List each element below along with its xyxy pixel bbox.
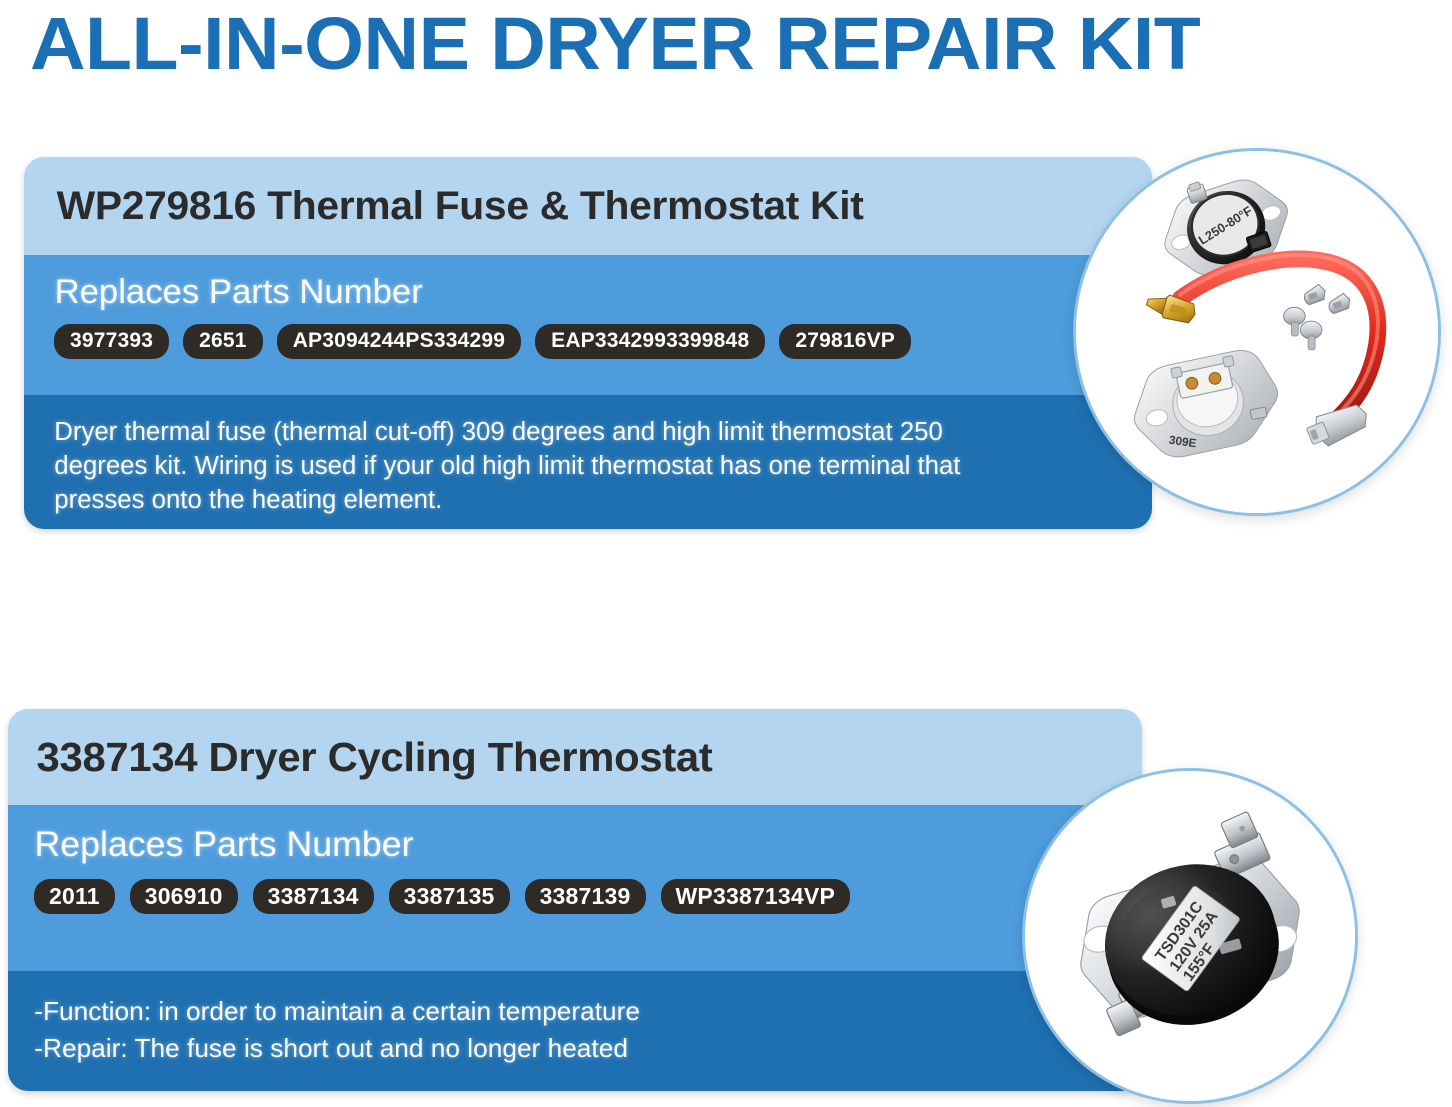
- card-description-band: Dryer thermal fuse (thermal cut-off) 309…: [24, 395, 1152, 529]
- part-number-badge: EAP3342993399848: [535, 324, 765, 359]
- infographic-page: ALL-IN-ONE DRYER REPAIR KIT WP279816 The…: [0, 0, 1452, 1107]
- part-number-badge: 306910: [130, 879, 238, 914]
- replaces-parts-label: Replaces Parts Number: [8, 805, 1142, 865]
- part-number-badge: 3387139: [525, 879, 646, 914]
- part-number-badge: 3387135: [389, 879, 510, 914]
- card-title: 3387134 Dryer Cycling Thermostat: [8, 734, 712, 781]
- part-number-badge: WP3387134VP: [661, 879, 850, 914]
- part-number-badge-row: 3977393 2651 AP3094244PS334299 EAP334299…: [24, 324, 1152, 359]
- part-number-badge: 2651: [183, 324, 263, 359]
- card-title: WP279816 Thermal Fuse & Thermostat Kit: [24, 184, 864, 229]
- product-card-thermal-fuse-kit: WP279816 Thermal Fuse & Thermostat Kit R…: [24, 157, 1152, 529]
- card-header-band: WP279816 Thermal Fuse & Thermostat Kit: [24, 157, 1152, 255]
- card-description-band: -Function: in order to maintain a certai…: [8, 971, 1142, 1091]
- card-description: -Function: in order to maintain a certai…: [8, 971, 978, 1067]
- part-number-badge: 279816VP: [779, 324, 911, 359]
- description-line: -Repair: The fuse is short out and no lo…: [34, 1030, 977, 1067]
- product-card-cycling-thermostat: 3387134 Dryer Cycling Thermostat Replace…: [8, 709, 1142, 1091]
- part-number-badge: 3387134: [253, 879, 374, 914]
- part-number-badge: AP3094244PS334299: [277, 324, 521, 359]
- card-parts-band: Replaces Parts Number 3977393 2651 AP309…: [24, 255, 1152, 395]
- description-line: -Function: in order to maintain a certai…: [34, 993, 977, 1030]
- part-number-badge: 2011: [34, 879, 115, 914]
- page-title: ALL-IN-ONE DRYER REPAIR KIT: [30, 2, 1452, 86]
- part-number-badge-row: 2011 306910 3387134 3387135 3387139 WP33…: [8, 879, 1142, 914]
- cycling-thermostat-photo: TSD301C 120V 25A 155°F: [1022, 768, 1358, 1104]
- replaces-parts-label: Replaces Parts Number: [24, 255, 1152, 312]
- card-header-band: 3387134 Dryer Cycling Thermostat: [8, 709, 1142, 805]
- thermal-fuse-thermostat-kit-photo: L250-80°F: [1073, 148, 1441, 516]
- part-number-badge: 3977393: [54, 324, 169, 359]
- card-parts-band: Replaces Parts Number 2011 306910 338713…: [8, 805, 1142, 971]
- card-description: Dryer thermal fuse (thermal cut-off) 309…: [24, 395, 994, 517]
